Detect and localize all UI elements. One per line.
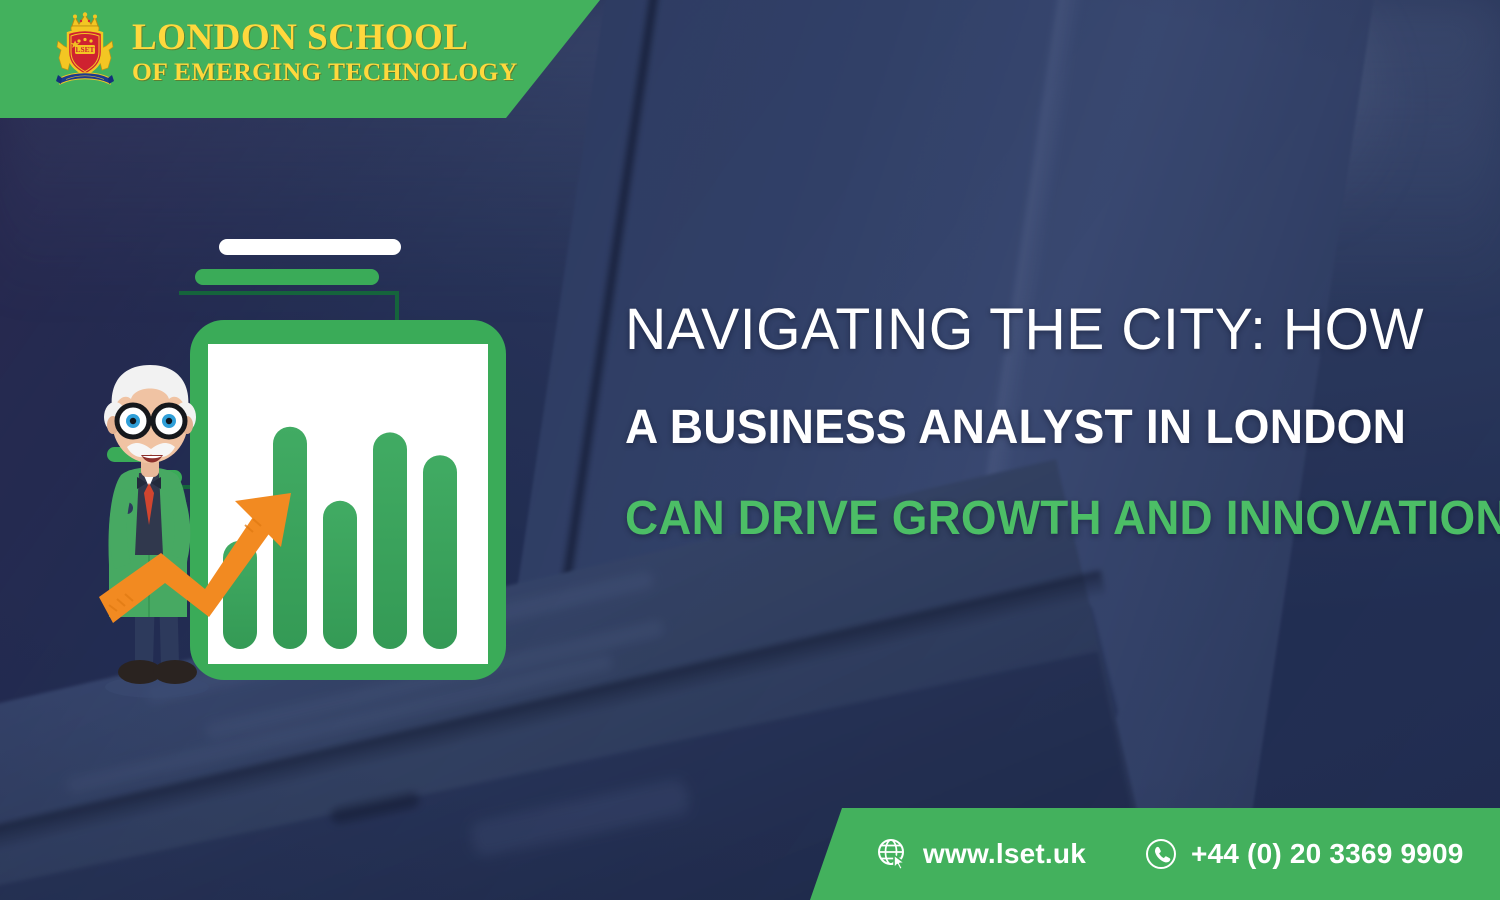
logo-line-2: OF EMERGING TECHNOLOGY xyxy=(132,59,518,85)
crest-monogram: LSET xyxy=(76,45,95,54)
logo-wordmark: LONDON SCHOOL OF EMERGING TECHNOLOGY xyxy=(132,19,518,85)
chart-bar xyxy=(423,455,457,649)
character-shoe-right xyxy=(153,660,197,684)
heraldic-crest-icon: LSET xyxy=(52,12,118,92)
chart-bar xyxy=(323,501,357,649)
promotional-banner: LSET LONDON SCHOOL OF EMERGING TECHNOLOG… xyxy=(0,0,1500,900)
business-analyst-bar-chart-illustration xyxy=(95,225,545,715)
decorative-pill-green xyxy=(195,269,379,285)
decorative-pill-white xyxy=(219,239,401,255)
chart-bar xyxy=(373,432,407,649)
logo-line-1: LONDON SCHOOL xyxy=(132,19,518,56)
headline-line-2: A BUSINESS ANALYST IN LONDON xyxy=(625,403,1431,454)
decorative-pill-group-top xyxy=(195,239,401,285)
headline-line-3: CAN DRIVE GROWTH AND INNOVATION xyxy=(625,494,1427,545)
headline-block: NAVIGATING THE CITY: HOW A BUSINESS ANAL… xyxy=(625,300,1465,545)
brand-logo[interactable]: LSET LONDON SCHOOL OF EMERGING TECHNOLOG… xyxy=(52,12,518,92)
headline-line-1: NAVIGATING THE CITY: HOW xyxy=(625,300,1452,361)
